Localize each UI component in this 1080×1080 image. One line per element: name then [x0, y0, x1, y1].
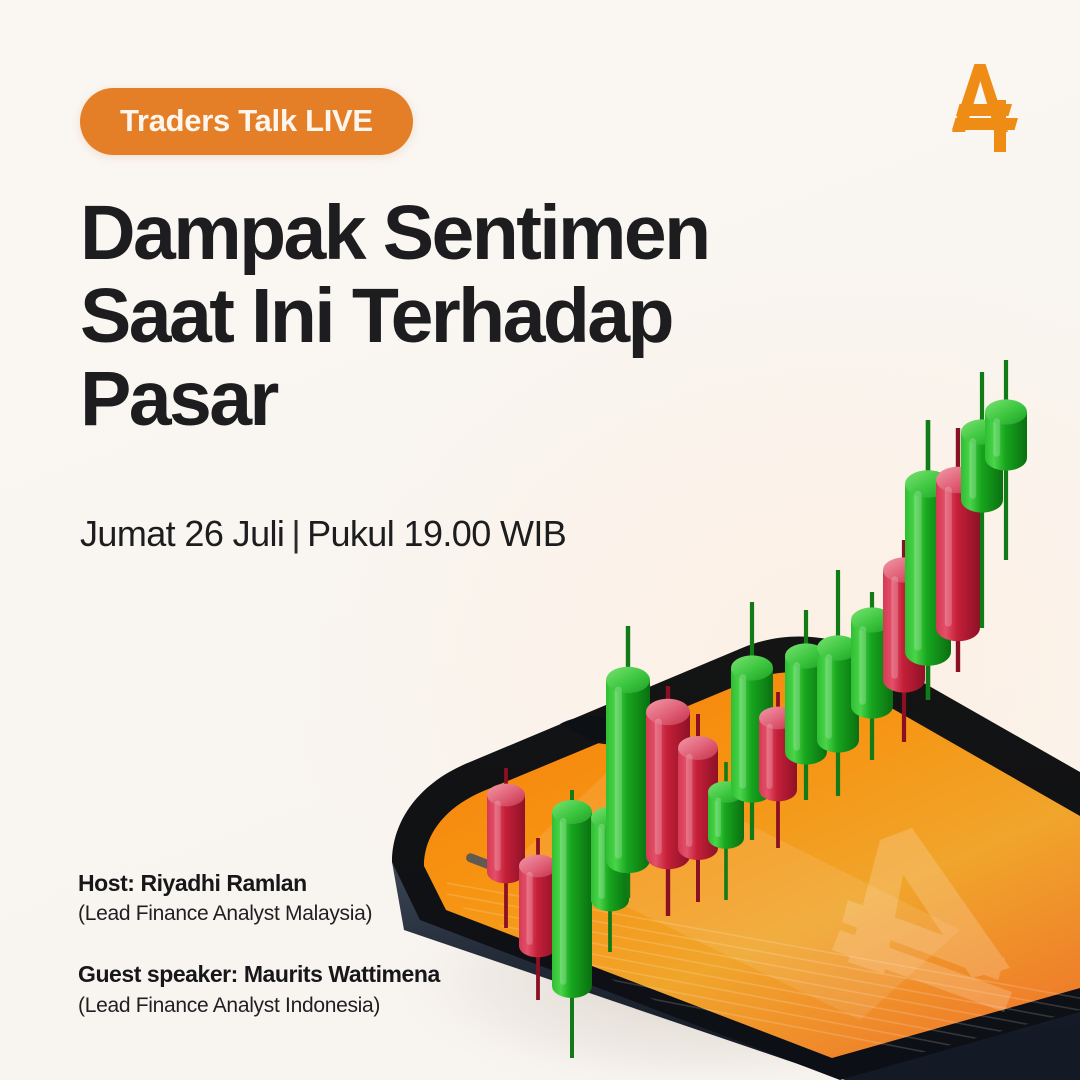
candle-13	[851, 592, 893, 760]
candle-15	[905, 420, 951, 700]
badge-label: Traders Talk LIVE	[120, 105, 373, 136]
candle-3	[552, 790, 592, 1058]
candle-1	[487, 768, 525, 928]
schedule-line: Jumat 26 Juli|Pukul 19.00 WIB	[80, 513, 566, 555]
guest-speaker-name: Guest speaker: Maurits Wattimena	[78, 959, 440, 990]
candle-9	[731, 602, 773, 840]
smartphone-illustration	[392, 637, 1080, 1080]
host-block: Host: Riyadhi Ramlan (Lead Finance Analy…	[78, 868, 440, 929]
candle-16	[936, 428, 980, 672]
schedule-date: Jumat 26 Juli	[80, 513, 284, 554]
candle-18	[985, 360, 1027, 560]
candle-2	[519, 838, 557, 1000]
host-role: (Lead Finance Analyst Malaysia)	[78, 899, 440, 929]
candle-17	[961, 372, 1003, 628]
candle-8	[708, 762, 744, 900]
headline-line-1: Dampak Sentimen	[80, 192, 840, 275]
guest-speaker-role: (Lead Finance Analyst Indonesia)	[78, 991, 440, 1021]
candle-14	[883, 540, 925, 742]
candle-12	[817, 570, 859, 796]
guest-speaker-block: Guest speaker: Maurits Wattimena (Lead F…	[78, 959, 440, 1020]
traders-talk-live-badge[interactable]: Traders Talk LIVE	[80, 88, 413, 155]
candle-10	[759, 692, 797, 848]
page-title: Dampak Sentimen Saat Ini Terhadap Pasar	[80, 192, 840, 441]
poster-canvas: Traders Talk LIVE Dampak Sentimen Saat I…	[0, 0, 1080, 1080]
candle-6	[646, 686, 690, 916]
headline-line-2: Saat Ini Terhadap	[80, 275, 840, 358]
candle-4	[591, 766, 629, 952]
candlestick-series	[487, 360, 1027, 1058]
host-name: Host: Riyadhi Ramlan	[78, 868, 440, 899]
candle-7	[678, 714, 718, 902]
schedule-time: Pukul 19.00 WIB	[307, 513, 566, 554]
appstar-a-logo-icon	[928, 56, 1032, 160]
speaker-list: Host: Riyadhi Ramlan (Lead Finance Analy…	[78, 868, 440, 1051]
headline-line-3: Pasar	[80, 358, 840, 441]
schedule-separator: |	[284, 513, 307, 554]
candle-11	[785, 610, 827, 800]
a-logo-watermark-icon	[832, 828, 1012, 1012]
candle-5	[606, 626, 650, 898]
